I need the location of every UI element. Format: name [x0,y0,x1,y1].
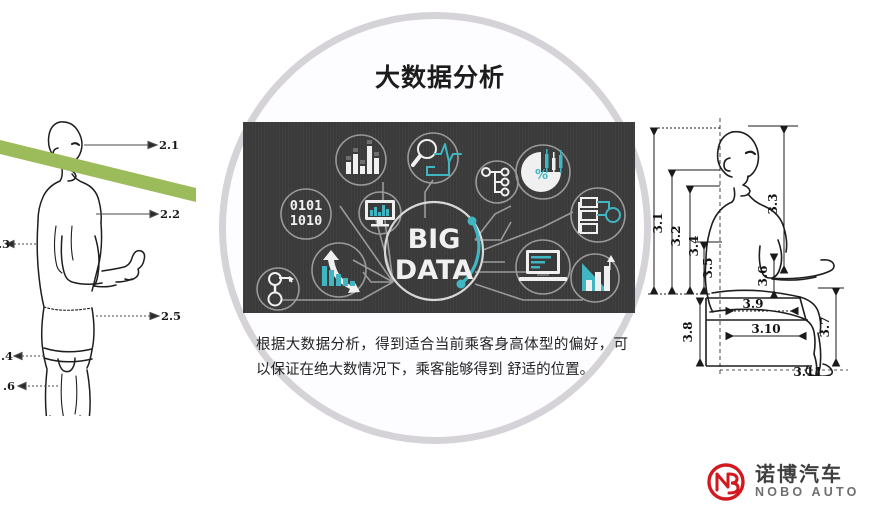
figure-right-label-3-6: 3.6 [756,266,770,287]
figure-left-label-6: .6 [3,379,15,393]
body-paragraph: 根据大数据分析，得到适合当前乘客身高体型的偏好，可以保证在绝大数情况下，乘客能够… [256,333,628,383]
page-title: 大数据分析 [240,58,640,94]
growth-arrow-chart-icon [312,243,366,297]
bar-growth-icon [571,254,619,302]
big-data-infographic: .ring{fill:none;stroke:#9a9a9a;stroke-wi… [243,122,635,313]
figure-left-label-2-5: 2.5 [161,309,181,323]
big-data-line-2: DATA [395,255,474,286]
logo-name-en: NOBO AUTO [755,485,860,500]
laptop-chart-icon [516,240,570,294]
figure-left-label-2-1: 2.1 [159,138,179,152]
figure-right-label-3-5: 3.5 [701,258,715,279]
flowchart-icon [571,188,625,242]
brand-logo: 诺博汽车 NOBO AUTO [706,458,878,506]
standing-figure-diagram: 2.1 2.2 .3 2.5 .4 .6 [0,86,200,416]
magnifier-pulse-icon [408,133,461,183]
figure-right-label-3-9: 3.9 [743,297,764,311]
figure-right-label-3-10: 3.10 [751,322,780,336]
logo-name-cn: 诺博汽车 [755,464,860,485]
figure-left-label-2-2: 2.2 [160,207,180,221]
figure-left-label-3: .3 [0,237,10,251]
svg-text:1010: 1010 [290,213,323,229]
big-data-line-1: BIG [408,224,461,255]
figure-right-label-3-4: 3.4 [687,236,701,257]
big-data-center-node: BIG DATA [385,202,483,300]
nobo-logo-mark [706,462,746,502]
svg-text:0101: 0101 [290,198,323,214]
bar-chart-icon [336,135,386,185]
binary-code-icon: 0101 1010 [281,189,331,239]
hierarchy-list-icon [476,161,518,203]
figure-right-label-3-11: 3.11 [793,365,822,376]
figure-right-label-3-2: 3.2 [669,226,683,247]
figure-right-label-3-7: 3.7 [818,317,832,338]
seated-figure-diagram: 3.1 3.2 3.4 3.5 3.3 3.6 3.8 3.7 3.9 3.10… [648,108,889,376]
pie-candlestick-icon: % [516,145,570,199]
logo-wordmark: 诺博汽车 NOBO AUTO [755,464,860,500]
figure-right-label-3-8: 3.8 [681,322,695,343]
figure-right-label-3-1: 3.1 [651,213,665,234]
monitor-chart-icon [359,192,401,234]
figure-left-label-4: .4 [1,349,13,363]
node-connector-icon [257,268,299,310]
slide-canvas: 2.1 2.2 .3 2.5 .4 .6 大数据分析 .ring{fill:no… [0,0,889,525]
figure-right-label-3-3: 3.3 [766,194,780,215]
